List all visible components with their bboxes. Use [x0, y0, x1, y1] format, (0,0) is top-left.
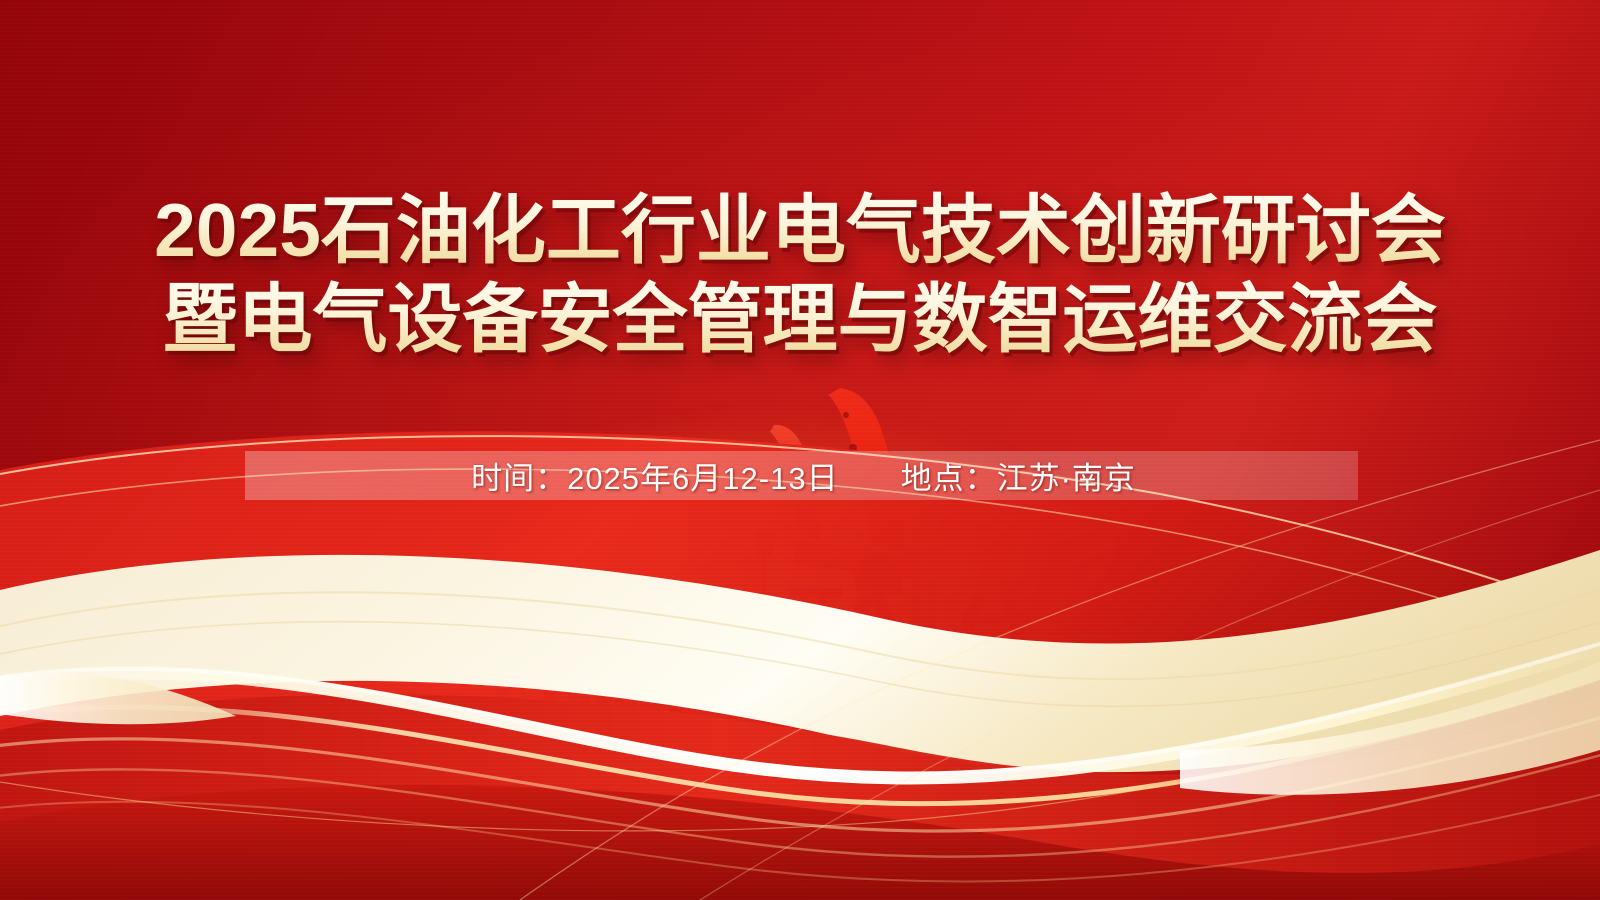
- poster-canvas: 2025石油化工行业电气技术创新研讨会 暨电气设备安全管理与数智运维交流会 时间…: [0, 0, 1600, 900]
- flowing-ribbons: [0, 430, 1600, 900]
- event-info-bar: 时间：2025年6月12-13日 地点：江苏·南京: [245, 451, 1358, 500]
- title-line-1: 2025石油化工行业电气技术创新研讨会: [0, 188, 1600, 273]
- title-line-2: 暨电气设备安全管理与数智运维交流会: [0, 277, 1600, 362]
- event-place: 地点：江苏·南京: [901, 453, 1136, 498]
- event-info-text: 时间：2025年6月12-13日 地点：江苏·南京: [471, 453, 1136, 498]
- title-block: 2025石油化工行业电气技术创新研讨会 暨电气设备安全管理与数智运维交流会: [0, 188, 1600, 362]
- event-time: 时间：2025年6月12-13日: [471, 453, 839, 498]
